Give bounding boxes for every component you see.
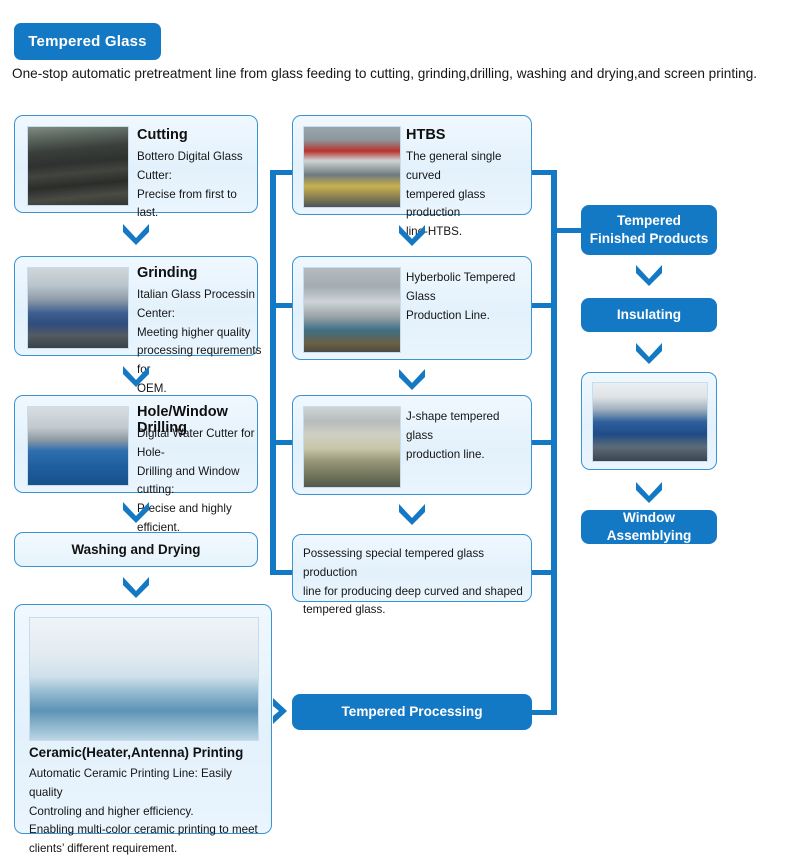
card-deep-curved[interactable]: Possessing special tempered glass produc…: [292, 534, 532, 602]
window-assemblying-label: Window Assemblying: [589, 509, 709, 546]
hyberbolic-photo: [303, 267, 401, 353]
flowchart-diagram: Tempered Glass One-stop automatic pretre…: [0, 0, 800, 854]
chevron-down-icon: [634, 340, 664, 364]
washing-and-drying-label: Washing and Drying: [72, 542, 201, 557]
card-grinding[interactable]: Grinding Italian Glass Processin Center:…: [14, 256, 258, 356]
hyberbolic-description: Hyberbolic Tempered Glass Production Lin…: [406, 269, 530, 325]
connector-right-branch-jshape: [531, 440, 557, 445]
connector-left-bracket-vertical: [270, 170, 276, 575]
chevron-down-icon: [634, 479, 664, 503]
ceramic-printing-title: Ceramic(Heater,Antenna) Printing: [29, 745, 243, 760]
box-washing-and-drying[interactable]: Washing and Drying: [14, 532, 258, 567]
grinding-description: Italian Glass Processin Center: Meeting …: [137, 286, 265, 399]
connector-left-branch-htbs: [270, 170, 292, 175]
hole-window-drilling-description: Digital Water Cutter for Hole- Drilling …: [137, 425, 263, 538]
pill-tempered-finished-products[interactable]: Tempered Finished Products: [581, 205, 717, 255]
j-shape-photo: [303, 406, 401, 488]
page-tag-badge[interactable]: Tempered Glass: [14, 23, 161, 60]
j-shape-description: J-shape tempered glass production line.: [406, 408, 526, 464]
pill-insulating[interactable]: Insulating: [581, 298, 717, 332]
grinding-photo: [27, 267, 129, 349]
hole-window-drilling-photo: [27, 406, 129, 486]
chevron-down-icon: [121, 363, 151, 387]
chevron-down-icon: [397, 501, 427, 525]
card-window-assembly-photo[interactable]: [581, 372, 717, 470]
page-tag-label: Tempered Glass: [28, 33, 146, 50]
card-htbs[interactable]: HTBS The general single curved tempered …: [292, 115, 532, 215]
pill-window-assemblying[interactable]: Window Assemblying: [581, 510, 717, 544]
connector-right-branch-hyberbolic: [531, 303, 557, 308]
ceramic-printing-photo: [29, 617, 259, 741]
pill-tempered-processing[interactable]: Tempered Processing: [292, 694, 532, 730]
card-j-shape[interactable]: J-shape tempered glass production line.: [292, 395, 532, 495]
deep-curved-description: Possessing special tempered glass produc…: [303, 545, 527, 620]
chevron-down-icon: [121, 574, 151, 598]
insulating-label: Insulating: [617, 306, 681, 324]
tempered-finished-products-label: Tempered Finished Products: [589, 212, 709, 249]
connector-left-branch-jshape: [270, 440, 292, 445]
cutting-description: Bottero Digital Glass Cutter: Precise fr…: [137, 148, 255, 223]
chevron-down-icon: [121, 221, 151, 245]
card-hyberbolic[interactable]: Hyberbolic Tempered Glass Production Lin…: [292, 256, 532, 360]
chevron-down-icon: [634, 262, 664, 286]
card-hole-window-drilling[interactable]: Hole/Window Drilling Digital Water Cutte…: [14, 395, 258, 493]
chevron-down-icon: [397, 366, 427, 390]
cutting-title: Cutting: [137, 127, 188, 143]
cutting-photo: [27, 126, 129, 206]
grinding-title: Grinding: [137, 265, 197, 281]
connector-right-branch-tempered-processing: [531, 710, 557, 715]
connector-left-branch-hyberbolic: [270, 303, 292, 308]
window-assembly-photo: [592, 382, 708, 462]
htbs-title: HTBS: [406, 127, 445, 143]
htbs-photo: [303, 126, 401, 208]
ceramic-printing-description: Automatic Ceramic Printing Line: Easily …: [29, 765, 265, 859]
tempered-processing-label: Tempered Processing: [341, 703, 482, 721]
chevron-right-icon: [270, 696, 290, 726]
chevron-down-icon: [397, 222, 427, 246]
chevron-down-icon: [121, 499, 151, 523]
card-ceramic-printing[interactable]: Ceramic(Heater,Antenna) Printing Automat…: [14, 604, 272, 834]
card-cutting[interactable]: Cutting Bottero Digital Glass Cutter: Pr…: [14, 115, 258, 213]
connector-to-tempered-finished-products: [551, 228, 581, 233]
connector-right-branch-deepcurved: [531, 570, 557, 575]
connector-right-branch-htbs: [531, 170, 557, 175]
connector-left-branch-deepcurved: [270, 570, 292, 575]
page-subtitle: One-stop automatic pretreatment line fro…: [12, 66, 792, 81]
